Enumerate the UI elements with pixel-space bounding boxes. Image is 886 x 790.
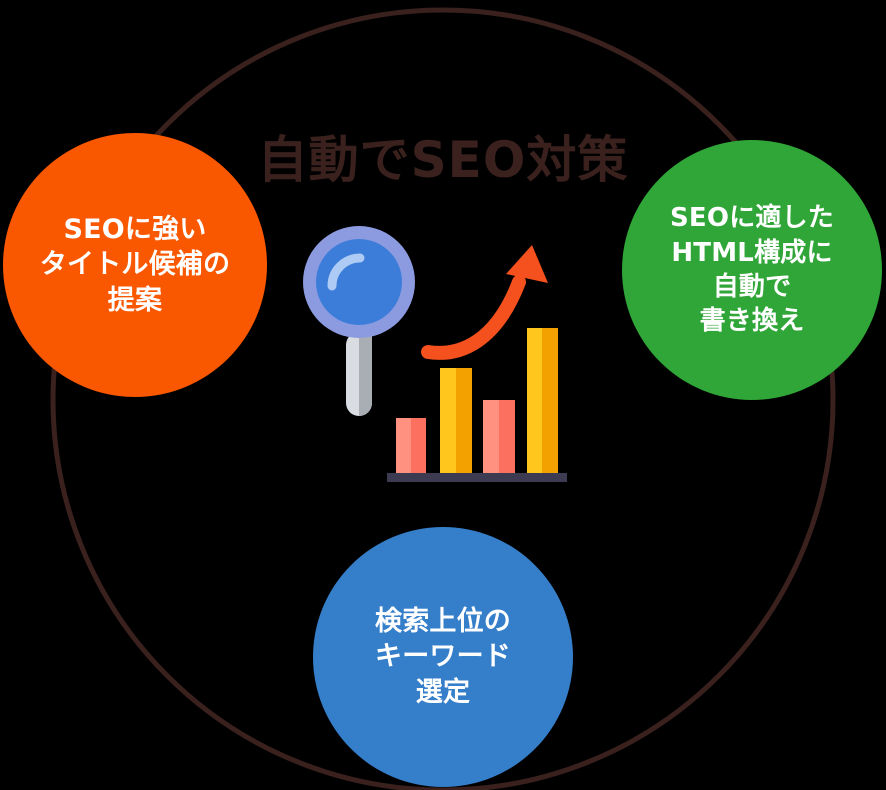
node-keyword-selection-line-2: キーワード [319, 639, 567, 675]
node-title-proposal-line-3: 提案 [9, 283, 261, 319]
node-html-rewrite-line-2: HTML構成に [628, 236, 876, 270]
chart-baseline [387, 473, 567, 482]
node-html-rewrite-line-4: 書き換え [628, 304, 876, 338]
node-title-proposal-line-2: タイトル候補の [9, 247, 261, 283]
bar-chart-group [387, 328, 567, 482]
bar-4-dark [542, 328, 558, 473]
bar-2-dark [456, 368, 472, 473]
bar-1-dark [411, 418, 426, 473]
node-title-proposal-line-1: SEOに強い [9, 212, 261, 248]
seo-growth-illustration [300, 220, 585, 505]
growth-arrow-curve-icon [428, 282, 519, 353]
node-html-rewrite-line-3: 自動で [628, 270, 876, 304]
node-html-rewrite-label: SEOに適した HTML構成に 自動で 書き換え [622, 201, 882, 338]
node-keyword-selection-line-3: 選定 [319, 675, 567, 711]
diagram-canvas: 自動でSEO対策 SEOに強い タイトル候補 [0, 0, 886, 790]
node-keyword-selection-label: 検索上位の キーワード 選定 [313, 604, 573, 711]
node-title-proposal[interactable]: SEOに強い タイトル候補の 提案 [3, 133, 267, 397]
growth-arrow-head-icon [506, 245, 548, 283]
node-title-proposal-label: SEOに強い タイトル候補の 提案 [3, 212, 267, 319]
node-keyword-selection[interactable]: 検索上位の キーワード 選定 [313, 527, 573, 787]
magnifier-handle-dark-icon [359, 332, 372, 416]
bar-3-dark [499, 400, 515, 473]
node-keyword-selection-line-1: 検索上位の [319, 604, 567, 640]
node-html-rewrite-line-1: SEOに適した [628, 201, 876, 235]
node-html-rewrite[interactable]: SEOに適した HTML構成に 自動で 書き換え [622, 140, 882, 400]
